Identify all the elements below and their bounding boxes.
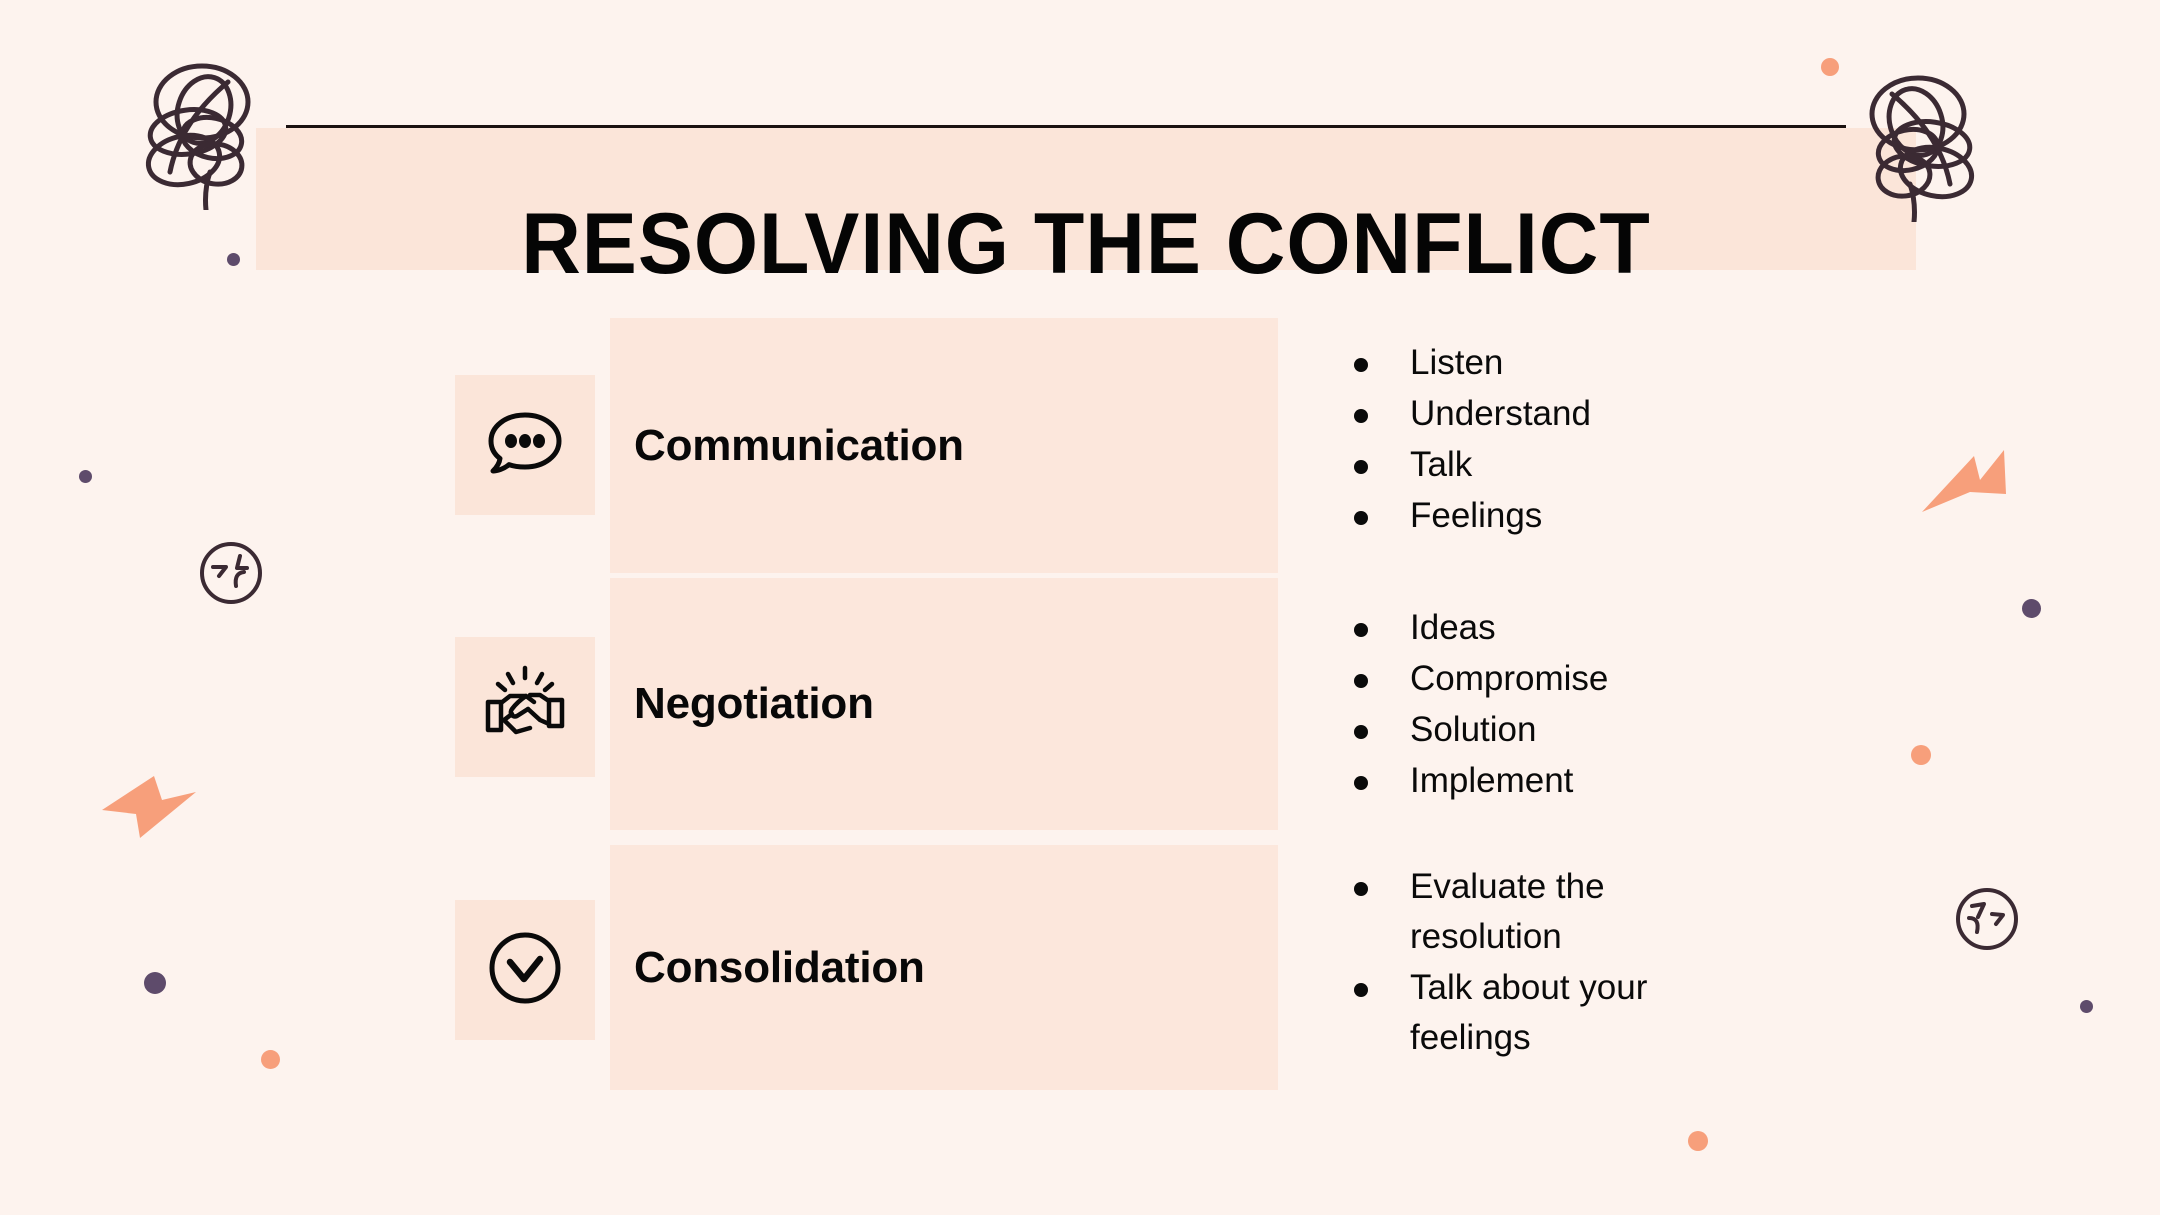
icon-box-consolidation xyxy=(455,900,595,1040)
icon-box-negotiation xyxy=(455,637,595,777)
tangle-scribble-icon xyxy=(140,60,280,215)
list-item: Ideas xyxy=(1340,603,1760,653)
list-item: Feelings xyxy=(1340,491,1760,541)
face-circle-icon xyxy=(1952,884,2022,959)
icon-box-communication xyxy=(455,375,595,515)
list-item: Compromise xyxy=(1340,654,1760,704)
bullet-list-consolidation: Evaluate the resolution Talk about your … xyxy=(1340,862,1760,1064)
decor-dot-purple xyxy=(79,470,92,483)
decor-dot-purple xyxy=(2022,599,2041,618)
row-card-communication[interactable]: Communication xyxy=(610,318,1278,573)
list-item: Listen xyxy=(1340,338,1760,388)
list-item: Solution xyxy=(1340,705,1760,755)
list-item: Talk xyxy=(1340,440,1760,490)
slide-canvas: RESOLVING THE CONFLICT xyxy=(0,0,2160,1215)
decor-dot-orange xyxy=(261,1050,280,1069)
decor-dot-purple xyxy=(2080,1000,2093,1013)
handshake-icon xyxy=(482,662,568,753)
list-item: Implement xyxy=(1340,756,1760,806)
row-label: Negotiation xyxy=(634,679,874,729)
page-title: RESOLVING THE CONFLICT xyxy=(289,190,1883,300)
face-circle-icon xyxy=(196,538,266,613)
title-rule xyxy=(286,125,1846,128)
list-item: Talk about your feelings xyxy=(1340,963,1760,1063)
row-card-negotiation[interactable]: Negotiation xyxy=(610,578,1278,830)
lightning-bolt-icon xyxy=(96,762,206,857)
row-card-consolidation[interactable]: Consolidation xyxy=(610,845,1278,1090)
bullet-list-negotiation: Ideas Compromise Solution Implement xyxy=(1340,603,1760,807)
row-label: Consolidation xyxy=(634,943,925,993)
decor-dot-orange xyxy=(1821,58,1839,76)
lightning-bolt-icon xyxy=(1918,432,2028,527)
decor-dot-orange xyxy=(1911,745,1931,765)
decor-dot-orange xyxy=(1688,1131,1708,1151)
decor-dot-purple xyxy=(144,972,166,994)
bullet-list-communication: Listen Understand Talk Feelings xyxy=(1340,338,1760,542)
speech-bubble-dots-icon xyxy=(483,401,567,490)
list-item: Understand xyxy=(1340,389,1760,439)
row-label: Communication xyxy=(634,421,964,471)
tangle-scribble-icon xyxy=(1840,72,1980,227)
list-item: Evaluate the resolution xyxy=(1340,862,1760,962)
check-circle-icon xyxy=(483,926,567,1015)
decor-dot-purple xyxy=(227,253,240,266)
